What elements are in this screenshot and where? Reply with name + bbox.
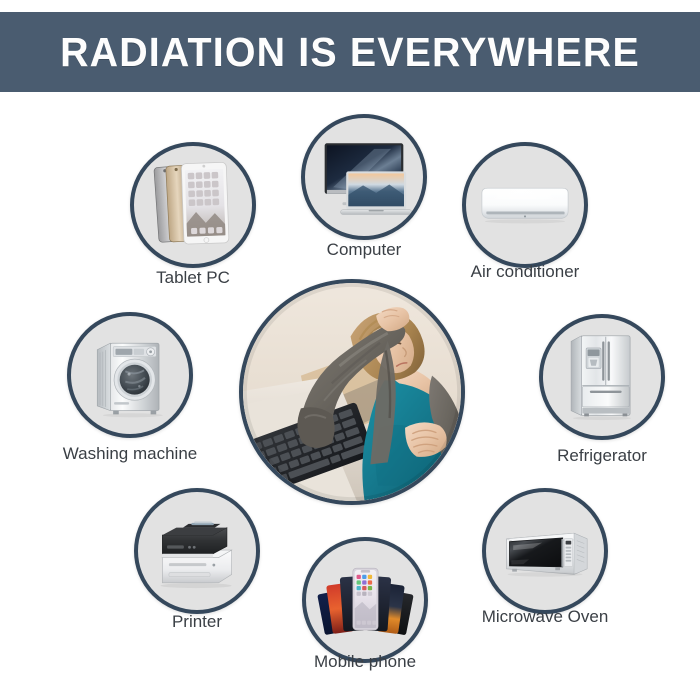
node-label-mobile-phone: Mobile phone: [235, 652, 495, 672]
bubble-air-conditioner: [462, 142, 588, 268]
desktop-computer-icon: [305, 118, 423, 236]
bubble-mobile-phone: [302, 537, 428, 663]
node-label-printer: Printer: [67, 612, 327, 632]
header-banner: RADIATION IS EVERYWHERE: [0, 12, 700, 92]
node-label-computer: Computer: [234, 240, 494, 260]
node-label-refrigerator: Refrigerator: [472, 446, 700, 466]
bubble-computer: [301, 114, 427, 240]
node-label-washing-machine: Washing machine: [0, 444, 260, 464]
washing-machine-icon: [71, 316, 189, 434]
bubble-center-photo: [239, 279, 465, 505]
poster-root: RADIATION IS EVERYWHERE: [0, 0, 700, 700]
bubble-printer: [134, 488, 260, 614]
microwave-oven-icon: [486, 492, 604, 610]
bubble-refrigerator: [539, 314, 665, 440]
pregnant-woman-at-computer-photo: [243, 283, 461, 501]
printer-icon: [138, 492, 256, 610]
page-title: RADIATION IS EVERYWHERE: [60, 32, 640, 73]
node-label-microwave-oven: Microwave Oven: [415, 607, 675, 627]
bubble-microwave-oven: [482, 488, 608, 614]
node-label-air-conditioner: Air conditioner: [395, 262, 655, 282]
smartphone-icon: [306, 541, 424, 659]
refrigerator-icon: [543, 318, 661, 436]
air-conditioner-icon: [466, 146, 584, 264]
bubble-washing-machine: [67, 312, 193, 438]
